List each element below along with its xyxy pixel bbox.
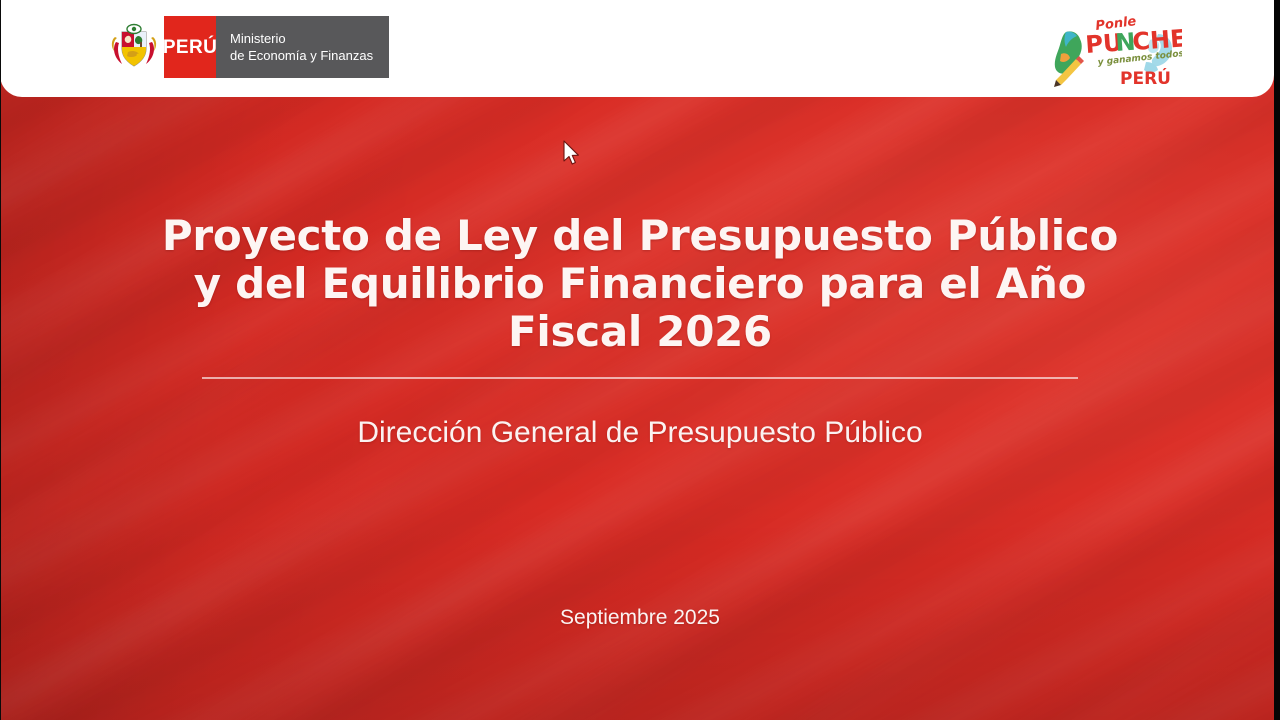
escudo-nacional-del-peru-icon xyxy=(108,16,160,78)
slide-header-bar: PERÚ Ministerio de Economía y Finanzas xyxy=(0,0,1274,97)
ponle-punche-peru-logo: Ponle PU N CHE y ganamos todos PERÚ xyxy=(1042,10,1182,88)
presentation-slide: PERÚ Ministerio de Economía y Finanzas xyxy=(0,0,1280,720)
ministry-line-1: Ministerio xyxy=(230,30,373,47)
slide-content: Proyecto de Ley del Presupuesto Público … xyxy=(0,97,1274,720)
title-divider-rule xyxy=(202,377,1078,379)
peru-wordmark-box: PERÚ xyxy=(164,16,216,78)
ministry-name-box: Ministerio de Economía y Finanzas xyxy=(216,16,389,78)
slide-subtitle: Dirección General de Presupuesto Público xyxy=(160,415,1120,451)
slide-title: Proyecto de Ley del Presupuesto Público … xyxy=(160,212,1120,356)
svg-text:PERÚ: PERÚ xyxy=(1120,67,1171,88)
mef-logo-lockup: PERÚ Ministerio de Economía y Finanzas xyxy=(108,16,389,78)
peru-wordmark-text: PERÚ xyxy=(163,38,217,57)
slide-date: Septiembre 2025 xyxy=(160,605,1120,631)
ministry-line-2: de Economía y Finanzas xyxy=(230,47,373,64)
